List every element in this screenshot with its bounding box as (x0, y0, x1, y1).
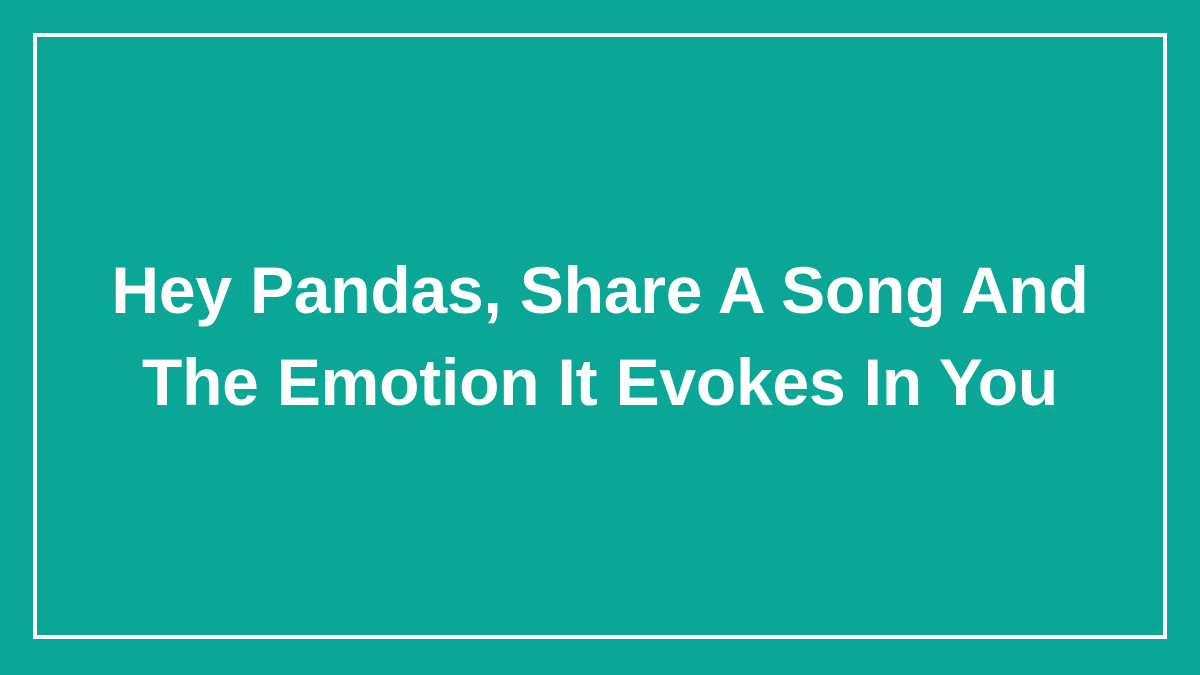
poster-content-area: Hey Pandas, Share A Song And The Emotion… (33, 33, 1167, 639)
headline-line-2: The Emotion It Evokes In You (111, 336, 1088, 428)
poster-canvas: Hey Pandas, Share A Song And The Emotion… (0, 0, 1200, 675)
headline-line-1: Hey Pandas, Share A Song And (111, 244, 1088, 336)
page-title: Hey Pandas, Share A Song And The Emotion… (111, 244, 1088, 428)
